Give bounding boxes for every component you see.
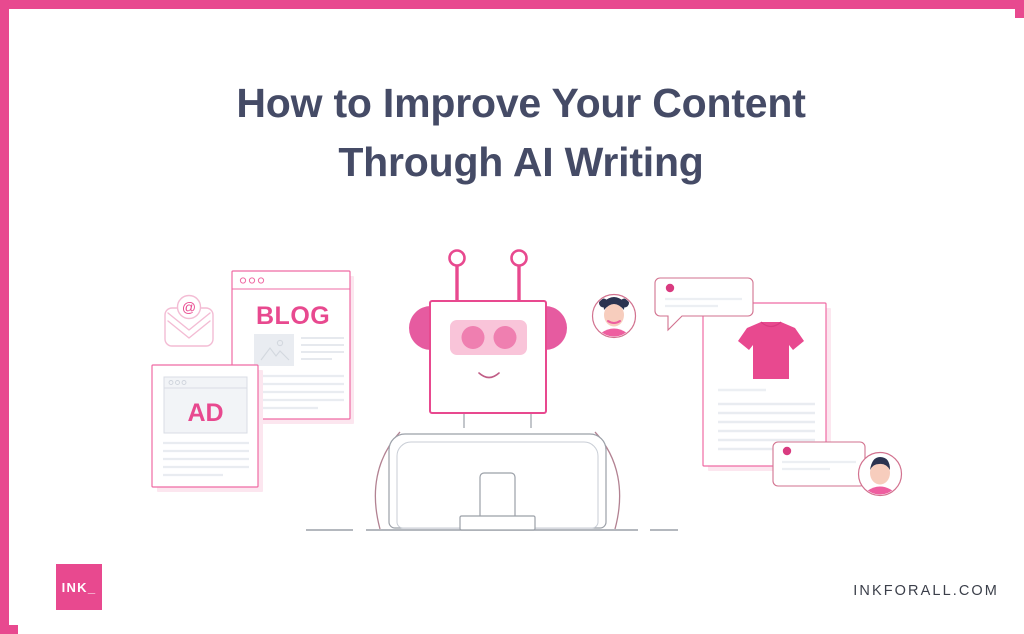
bubble-bottom-dot bbox=[783, 447, 791, 455]
ai-robot bbox=[375, 251, 619, 531]
ad-card: AD bbox=[152, 365, 263, 492]
robot-antennae bbox=[450, 251, 527, 302]
robot-eye-right bbox=[494, 326, 517, 349]
avatar-person-buns bbox=[593, 295, 636, 348]
avatar-person-short bbox=[859, 453, 902, 506]
email-envelope-icon: @ bbox=[165, 296, 213, 347]
ink-logo[interactable]: INK_ bbox=[56, 564, 102, 610]
illustration: BLOG bbox=[18, 18, 1024, 634]
ad-label: AD bbox=[187, 399, 223, 427]
ink-logo-text: INK_ bbox=[62, 580, 97, 595]
robot-eye-left bbox=[462, 326, 485, 349]
banner-canvas: How to Improve Your Content Through AI W… bbox=[18, 18, 1024, 634]
website-url: INKFORALL.COM bbox=[853, 583, 999, 599]
bubble-top-dot bbox=[666, 284, 674, 292]
blog-label: BLOG bbox=[256, 302, 330, 330]
email-at-symbol: @ bbox=[182, 299, 196, 315]
banner-frame: How to Improve Your Content Through AI W… bbox=[0, 0, 1024, 634]
